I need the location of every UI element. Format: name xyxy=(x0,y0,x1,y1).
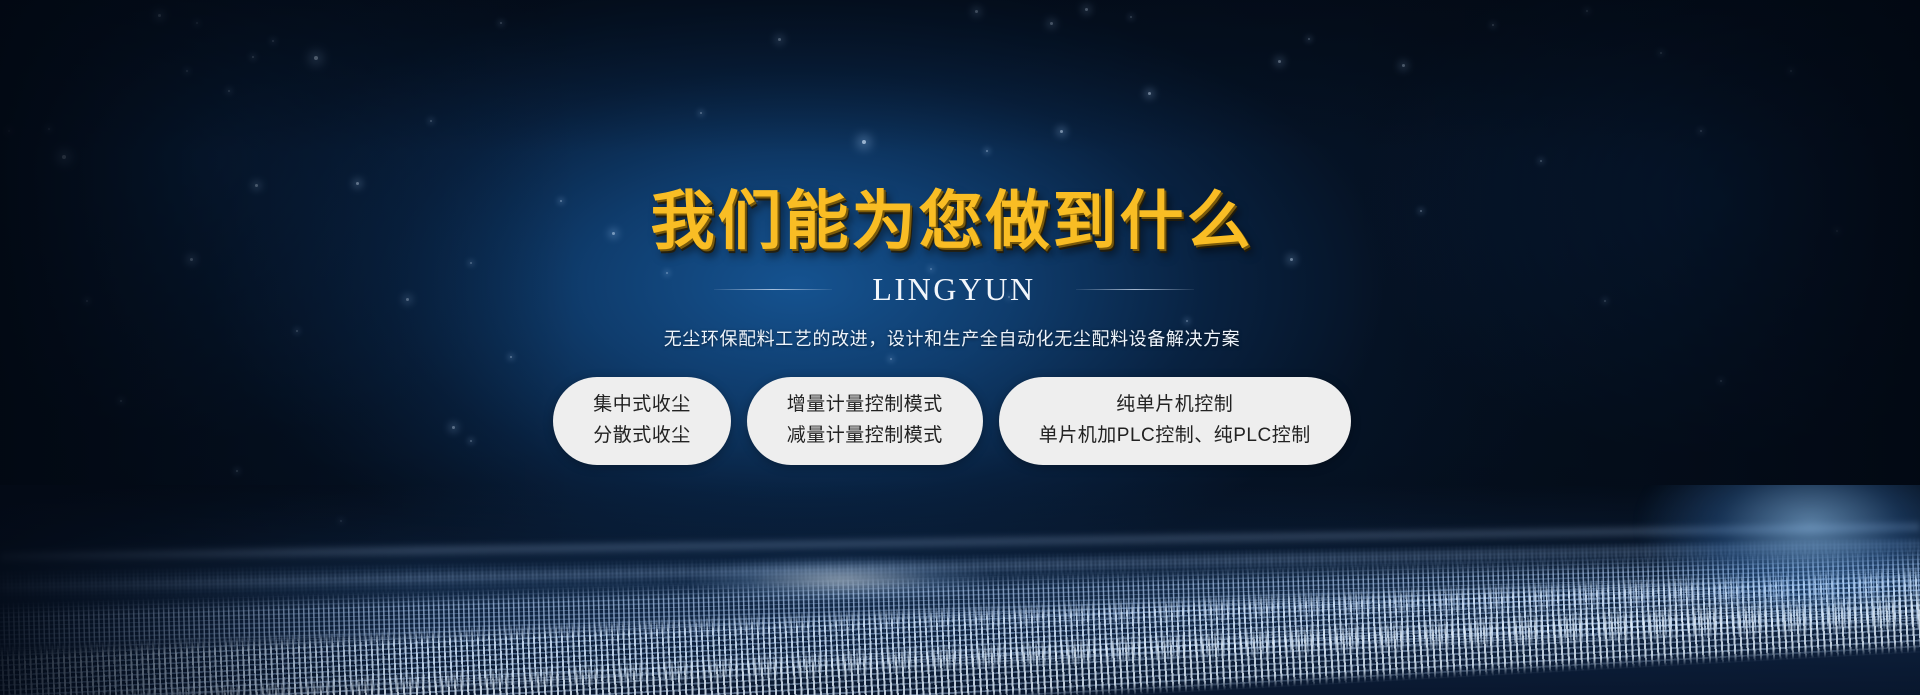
feature-pill-control-system[interactable]: 纯单片机控制 单片机加PLC控制、纯PLC控制 xyxy=(999,377,1351,465)
description-text: 无尘环保配料工艺的改进，设计和生产全自动化无尘配料设备解决方案 xyxy=(664,325,1241,351)
page-title: 我们能为您做到什么 xyxy=(651,188,1254,255)
brand-name: LINGYUN xyxy=(872,273,1035,305)
pill-line-2: 分散式收尘 xyxy=(593,426,691,447)
divider-line-right xyxy=(1076,289,1194,290)
pill-line-1: 增量计量控制模式 xyxy=(787,395,943,416)
feature-pill-dust-collection[interactable]: 集中式收尘 分散式收尘 xyxy=(553,377,731,465)
pill-line-1: 纯单片机控制 xyxy=(1116,395,1233,416)
pill-line-1: 集中式收尘 xyxy=(593,395,691,416)
subtitle-row: LINGYUN xyxy=(714,273,1193,305)
banner-content: 我们能为您做到什么 LINGYUN 无尘环保配料工艺的改进，设计和生产全自动化无… xyxy=(0,0,1920,695)
feature-pill-group: 集中式收尘 分散式收尘 增量计量控制模式 减量计量控制模式 纯单片机控制 单片机… xyxy=(553,377,1350,465)
pill-line-2: 减量计量控制模式 xyxy=(787,426,943,447)
hero-banner: 我们能为您做到什么 LINGYUN 无尘环保配料工艺的改进，设计和生产全自动化无… xyxy=(0,0,1920,695)
divider-line-left xyxy=(714,289,832,290)
feature-pill-weighing-mode[interactable]: 增量计量控制模式 减量计量控制模式 xyxy=(747,377,983,465)
pill-line-2: 单片机加PLC控制、纯PLC控制 xyxy=(1039,426,1311,447)
